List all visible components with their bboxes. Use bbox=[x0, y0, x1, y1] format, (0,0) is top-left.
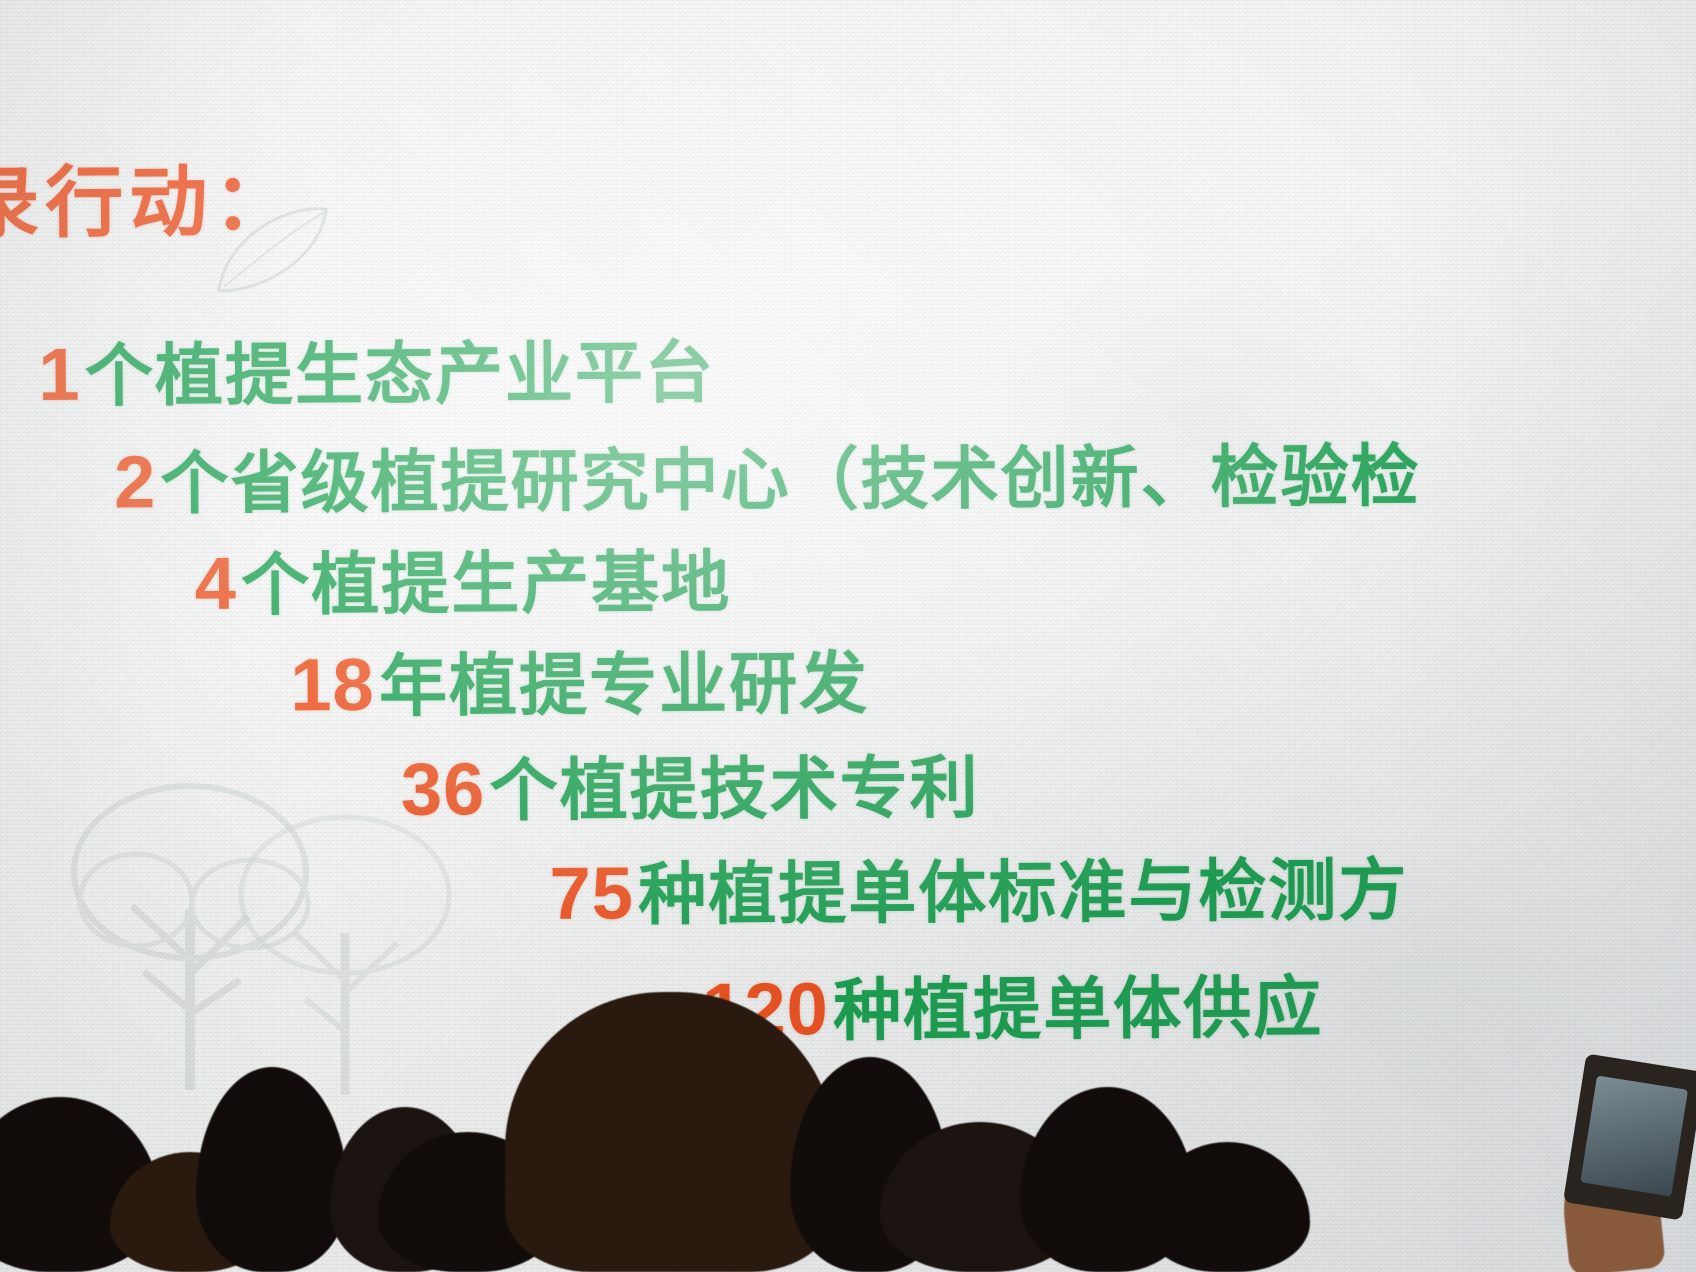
slide-bullet-3: 4 个植提生产基地 bbox=[194, 544, 731, 621]
slide-bullet-4: 18 年植提专业研发 bbox=[290, 645, 869, 723]
bullet-5-number: 36 bbox=[401, 747, 486, 831]
bullet-2-text: 个省级植提研究中心（技术创新、检验检 bbox=[160, 438, 1420, 522]
slide-bullet-6: 75 种植提单体标准与检测方 bbox=[549, 852, 1408, 931]
bullet-6-text: 种植提单体标准与检测方 bbox=[638, 853, 1408, 934]
slide-bullet-7: 120 种植提单体供应 bbox=[702, 969, 1323, 1047]
bullet-7-text: 种植提单体供应 bbox=[833, 970, 1323, 1049]
bullet-7-number: 120 bbox=[702, 967, 829, 1051]
slide-bullet-1: 1 个植提生态产业平台 bbox=[38, 334, 715, 412]
bullet-4-text: 年植提专业研发 bbox=[379, 646, 869, 725]
bullet-1-text: 个植提生态产业平台 bbox=[85, 335, 715, 415]
slide-text-block: 录行动： 1 个植提生态产业平台 2 个省级植提研究中心（技术创新、检验检 4 … bbox=[0, 0, 1696, 1272]
bullet-5-text: 个植提技术专利 bbox=[489, 750, 979, 829]
slide-bullet-5: 36 个植提技术专利 bbox=[401, 749, 980, 827]
bullet-4-number: 18 bbox=[290, 643, 375, 727]
bullet-3-text: 个植提生产基地 bbox=[241, 545, 731, 624]
slide-heading: 录行动： bbox=[0, 139, 298, 253]
slide-bullet-2: 2 个省级植提研究中心（技术创新、检验检 bbox=[114, 437, 1421, 519]
bullet-2-number: 2 bbox=[114, 440, 157, 523]
bullet-6-number: 75 bbox=[549, 851, 634, 935]
bullet-3-number: 4 bbox=[194, 542, 237, 625]
bullet-1-number: 1 bbox=[38, 333, 81, 416]
photo-of-presentation-slide: 录行动： 1 个植提生态产业平台 2 个省级植提研究中心（技术创新、检验检 4 … bbox=[0, 0, 1696, 1272]
